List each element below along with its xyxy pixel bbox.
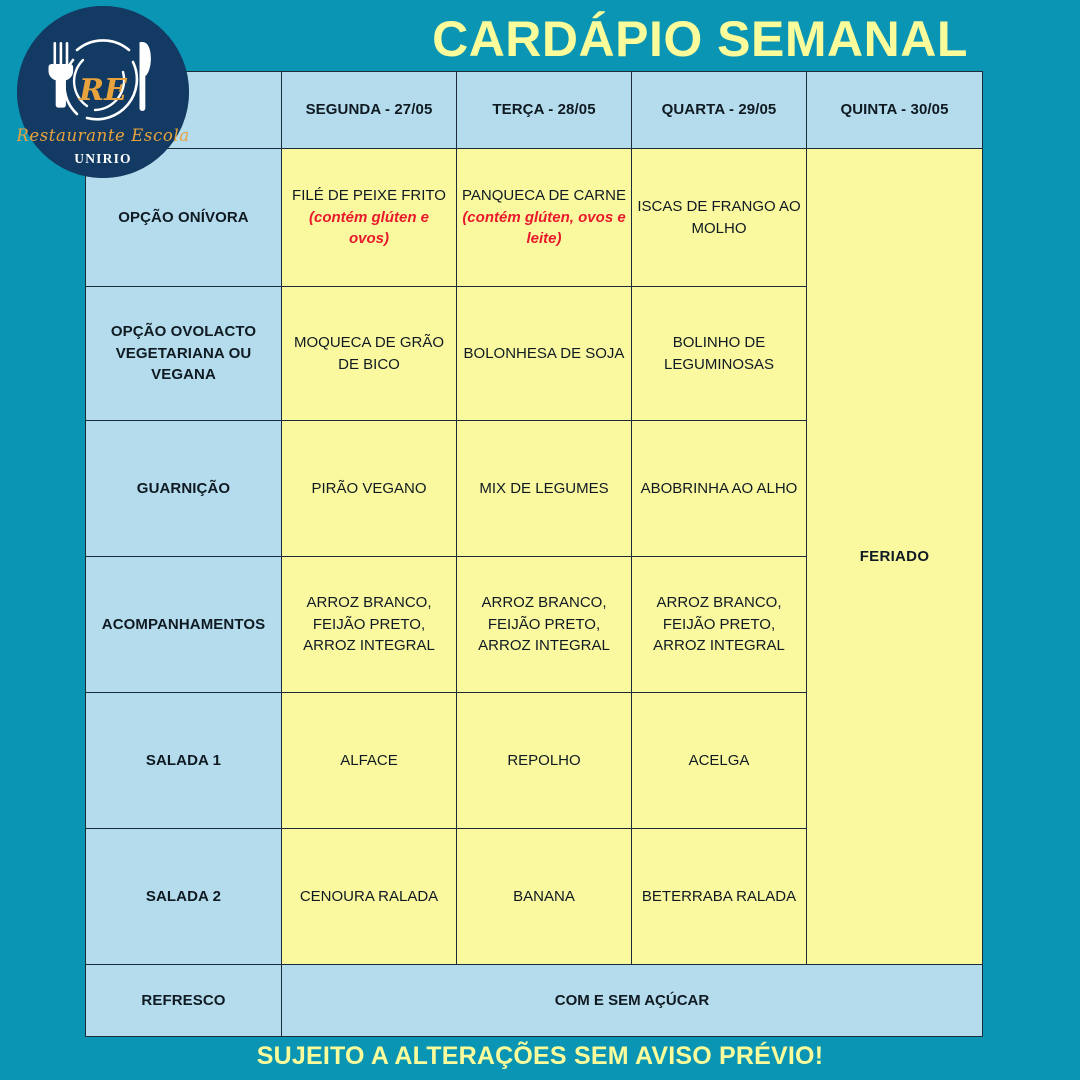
cell-vegetariana-wednesday: BOLINHO DE LEGUMINOSAS: [632, 287, 807, 421]
dish-name: ARROZ BRANCO, FEIJÃO PRETO, ARROZ INTEGR…: [637, 592, 801, 657]
row-label-vegetariana: OPÇÃO OVOLACTO VEGETARIANA OU VEGANA: [86, 287, 282, 421]
cell-acompanhamentos-tuesday: ARROZ BRANCO, FEIJÃO PRETO, ARROZ INTEGR…: [457, 557, 632, 693]
cell-onivora-tuesday: PANQUECA DE CARNE (contém glúten, ovos e…: [457, 149, 632, 287]
page-title: CARDÁPIO SEMANAL: [400, 8, 1000, 70]
dish-name: FILÉ DE PEIXE FRITO: [287, 185, 451, 207]
dish-name: ARROZ BRANCO, FEIJÃO PRETO, ARROZ INTEGR…: [462, 592, 626, 657]
header-cell-monday: SEGUNDA - 27/05: [282, 72, 457, 149]
cell-guarnicao-wednesday: ABOBRINHA AO ALHO: [632, 421, 807, 557]
cell-acompanhamentos-monday: ARROZ BRANCO, FEIJÃO PRETO, ARROZ INTEGR…: [282, 557, 457, 693]
restaurant-logo: RE Restaurante Escola UNIRIO: [17, 6, 189, 178]
table-header-row: SEGUNDA - 27/05 TERÇA - 28/05 QUARTA - 2…: [86, 72, 983, 149]
dish-name: ALFACE: [287, 750, 451, 772]
logo-monogram: RE: [78, 73, 128, 108]
cell-onivora-monday: FILÉ DE PEIXE FRITO (contém glúten e ovo…: [282, 149, 457, 287]
dish-name: ACELGA: [637, 750, 801, 772]
dish-name: MOQUECA DE GRÃO DE BICO: [287, 332, 451, 376]
disclaimer-note: SUJEITO A ALTERAÇÕES SEM AVISO PRÉVIO!: [0, 1032, 1080, 1080]
cell-salada2-monday: CENOURA RALADA: [282, 829, 457, 965]
cell-salada2-wednesday: BETERRABA RALADA: [632, 829, 807, 965]
dish-name: BANANA: [462, 886, 626, 908]
cell-salada1-monday: ALFACE: [282, 693, 457, 829]
dish-name: BETERRABA RALADA: [637, 886, 801, 908]
logo-svg: RE Restaurante Escola UNIRIO: [17, 6, 189, 178]
dish-name: CENOURA RALADA: [287, 886, 451, 908]
cell-thursday-holiday: FERIADO: [807, 149, 983, 965]
table-row: OPÇÃO ONÍVORA FILÉ DE PEIXE FRITO (conté…: [86, 149, 983, 287]
cell-salada2-tuesday: BANANA: [457, 829, 632, 965]
cell-guarnicao-tuesday: MIX DE LEGUMES: [457, 421, 632, 557]
cell-refresco-value: COM E SEM AÇÚCAR: [282, 965, 983, 1037]
row-label-acompanhamentos: ACOMPANHAMENTOS: [86, 557, 282, 693]
row-label-salada-1: SALADA 1: [86, 693, 282, 829]
logo-name: Restaurante Escola: [17, 126, 189, 145]
row-label-salada-2: SALADA 2: [86, 829, 282, 965]
dish-name: BOLONHESA DE SOJA: [462, 343, 626, 365]
row-label-refresco: REFRESCO: [86, 965, 282, 1037]
cell-guarnicao-monday: PIRÃO VEGANO: [282, 421, 457, 557]
dish-name: ISCAS DE FRANGO AO MOLHO: [637, 196, 801, 240]
dish-name: ABOBRINHA AO ALHO: [637, 478, 801, 500]
dish-name: PIRÃO VEGANO: [287, 478, 451, 500]
row-label-guarnicao: GUARNIÇÃO: [86, 421, 282, 557]
cell-onivora-wednesday: ISCAS DE FRANGO AO MOLHO: [632, 149, 807, 287]
cell-vegetariana-monday: MOQUECA DE GRÃO DE BICO: [282, 287, 457, 421]
logo-institution: UNIRIO: [74, 151, 131, 166]
dish-name: ARROZ BRANCO, FEIJÃO PRETO, ARROZ INTEGR…: [287, 592, 451, 657]
allergen-note: (contém glúten, ovos e leite): [462, 207, 626, 251]
dish-name: PANQUECA DE CARNE: [462, 185, 626, 207]
cell-acompanhamentos-wednesday: ARROZ BRANCO, FEIJÃO PRETO, ARROZ INTEGR…: [632, 557, 807, 693]
dish-name: REPOLHO: [462, 750, 626, 772]
weekly-menu-table: SEGUNDA - 27/05 TERÇA - 28/05 QUARTA - 2…: [85, 71, 983, 1037]
cell-vegetariana-tuesday: BOLONHESA DE SOJA: [457, 287, 632, 421]
header-cell-tuesday: TERÇA - 28/05: [457, 72, 632, 149]
cell-salada1-tuesday: REPOLHO: [457, 693, 632, 829]
allergen-note: (contém glúten e ovos): [287, 207, 451, 251]
table-row: REFRESCO COM E SEM AÇÚCAR: [86, 965, 983, 1037]
cell-salada1-wednesday: ACELGA: [632, 693, 807, 829]
header-cell-thursday: QUINTA - 30/05: [807, 72, 983, 149]
header-cell-wednesday: QUARTA - 29/05: [632, 72, 807, 149]
dish-name: MIX DE LEGUMES: [462, 478, 626, 500]
dish-name: BOLINHO DE LEGUMINOSAS: [637, 332, 801, 376]
